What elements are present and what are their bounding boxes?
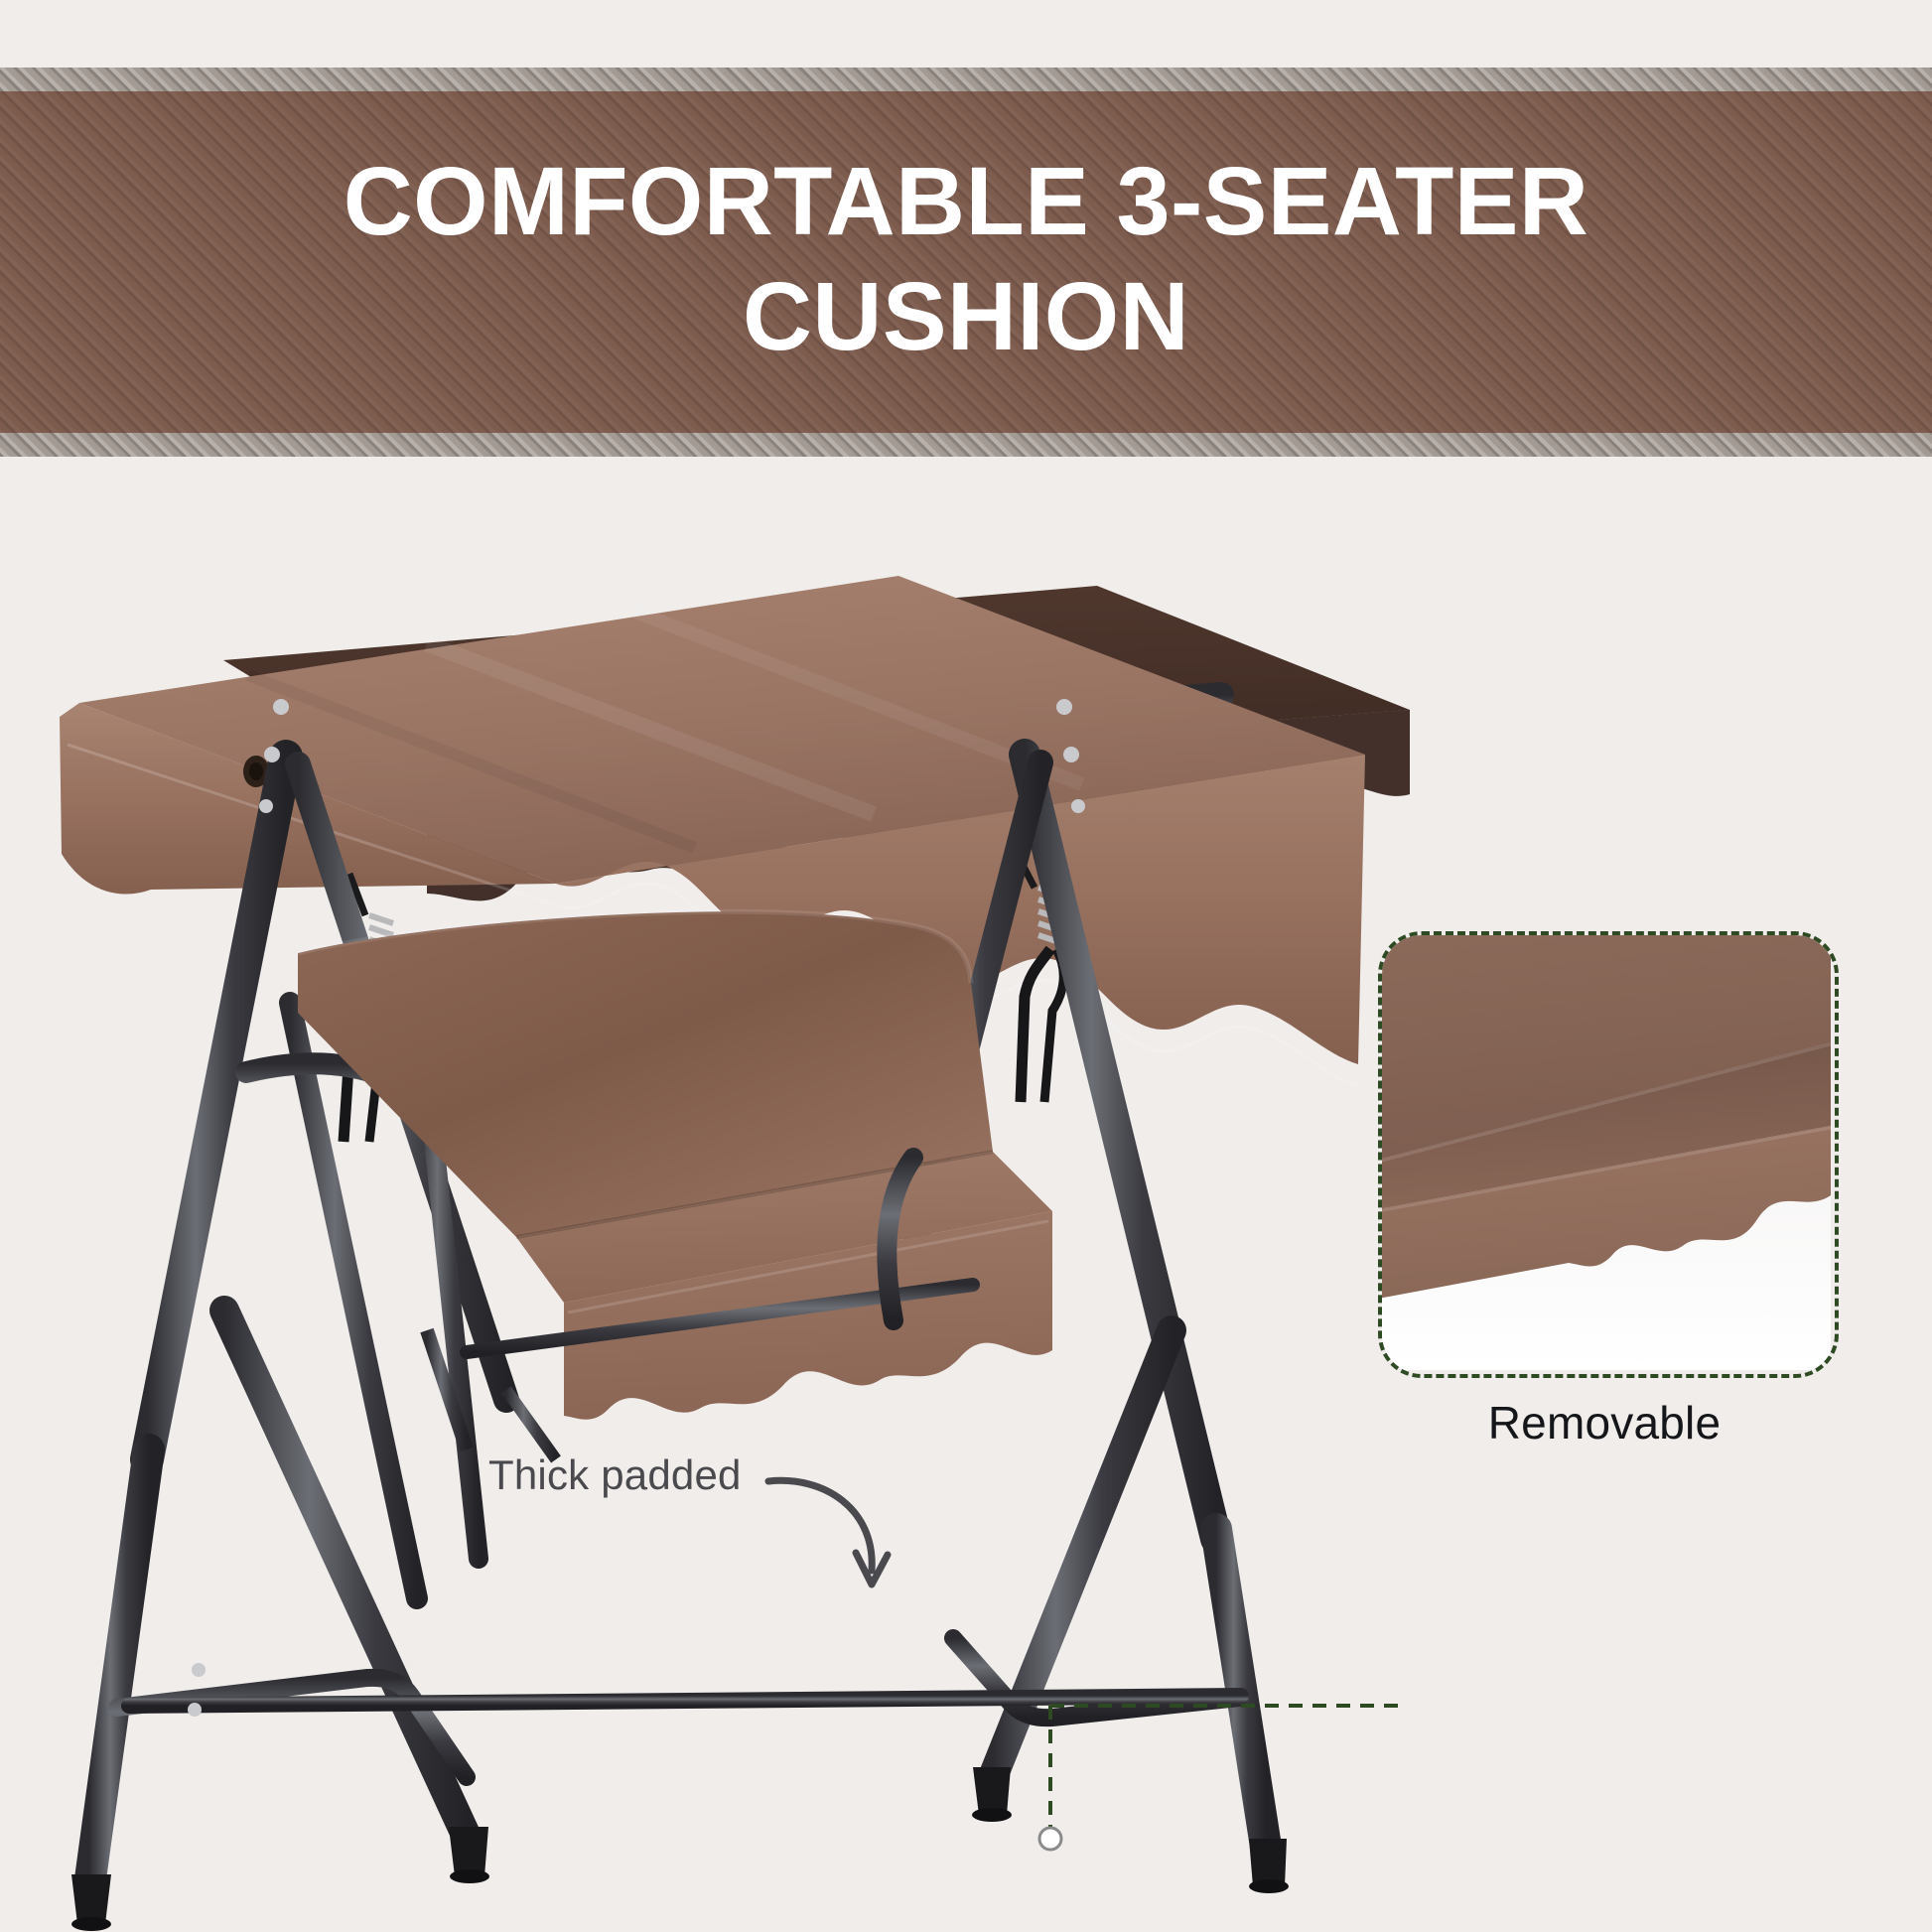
banner-bottom-strip [0,433,1932,457]
removable-label: Removable [1378,1396,1831,1449]
page-title: COMFORTABLE 3-SEATER CUSHION [192,144,1740,381]
foot-cap-right-inner [972,1767,1012,1822]
thick-padded-label: Thick padded [488,1451,742,1499]
page-title-line-1: COMFORTABLE 3-SEATER [192,144,1740,259]
callout-connector [1023,1678,1420,1876]
foot-cap-left-inner [449,1827,489,1883]
seat-frame-strut-2 [506,1390,556,1459]
removable-detail-inset [1378,931,1839,1378]
foot-cap-left-outer [71,1874,111,1931]
curved-arrow-icon [762,1467,892,1598]
page-title-line-2: CUSHION [192,259,1740,374]
headline-banner: COMFORTABLE 3-SEATER CUSHION [0,68,1932,457]
banner-top-strip [0,68,1932,91]
product-marketing-image: COMFORTABLE 3-SEATER CUSHION [0,0,1932,1932]
frame-leg-left-inner [224,1311,467,1837]
removable-detail-illustration [1378,931,1831,1370]
frame-leg-left-outer [89,1449,149,1886]
